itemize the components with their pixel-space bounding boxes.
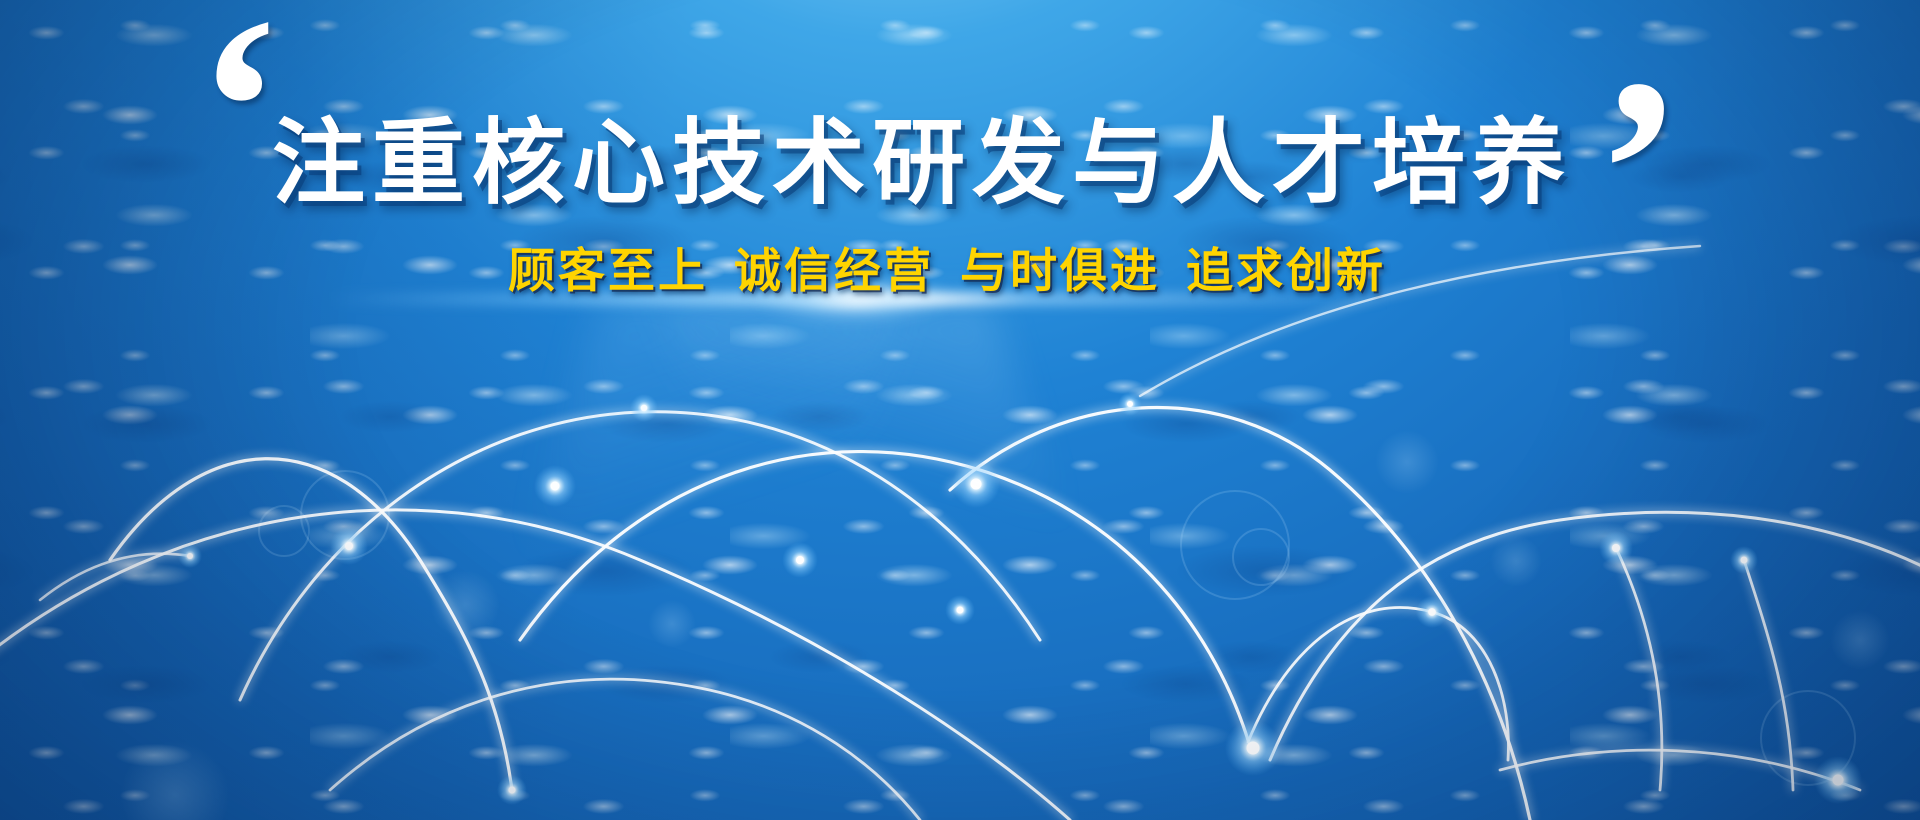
subtitle-segment-4: 追求创新: [1186, 246, 1386, 298]
subtitle-segment-1: 顾客至上: [508, 246, 708, 298]
subtitle-segment-2: 诚信经营: [734, 246, 934, 298]
quote-close-mark: ’: [1596, 40, 1683, 300]
promo-banner: ‘ 注重核心技术研发与人才培养 顾客至上诚信经营与时俱进追求创新 ’: [0, 0, 1920, 820]
quote-open-mark: ‘: [196, 0, 283, 238]
banner-headline: 注重核心技术研发与人才培养: [272, 112, 1592, 214]
banner-subtitle: 顾客至上诚信经营与时俱进追求创新: [508, 232, 1608, 301]
banner-text-layer: ‘ 注重核心技术研发与人才培养 顾客至上诚信经营与时俱进追求创新 ’: [0, 0, 1920, 820]
subtitle-segment-3: 与时俱进: [960, 246, 1160, 298]
